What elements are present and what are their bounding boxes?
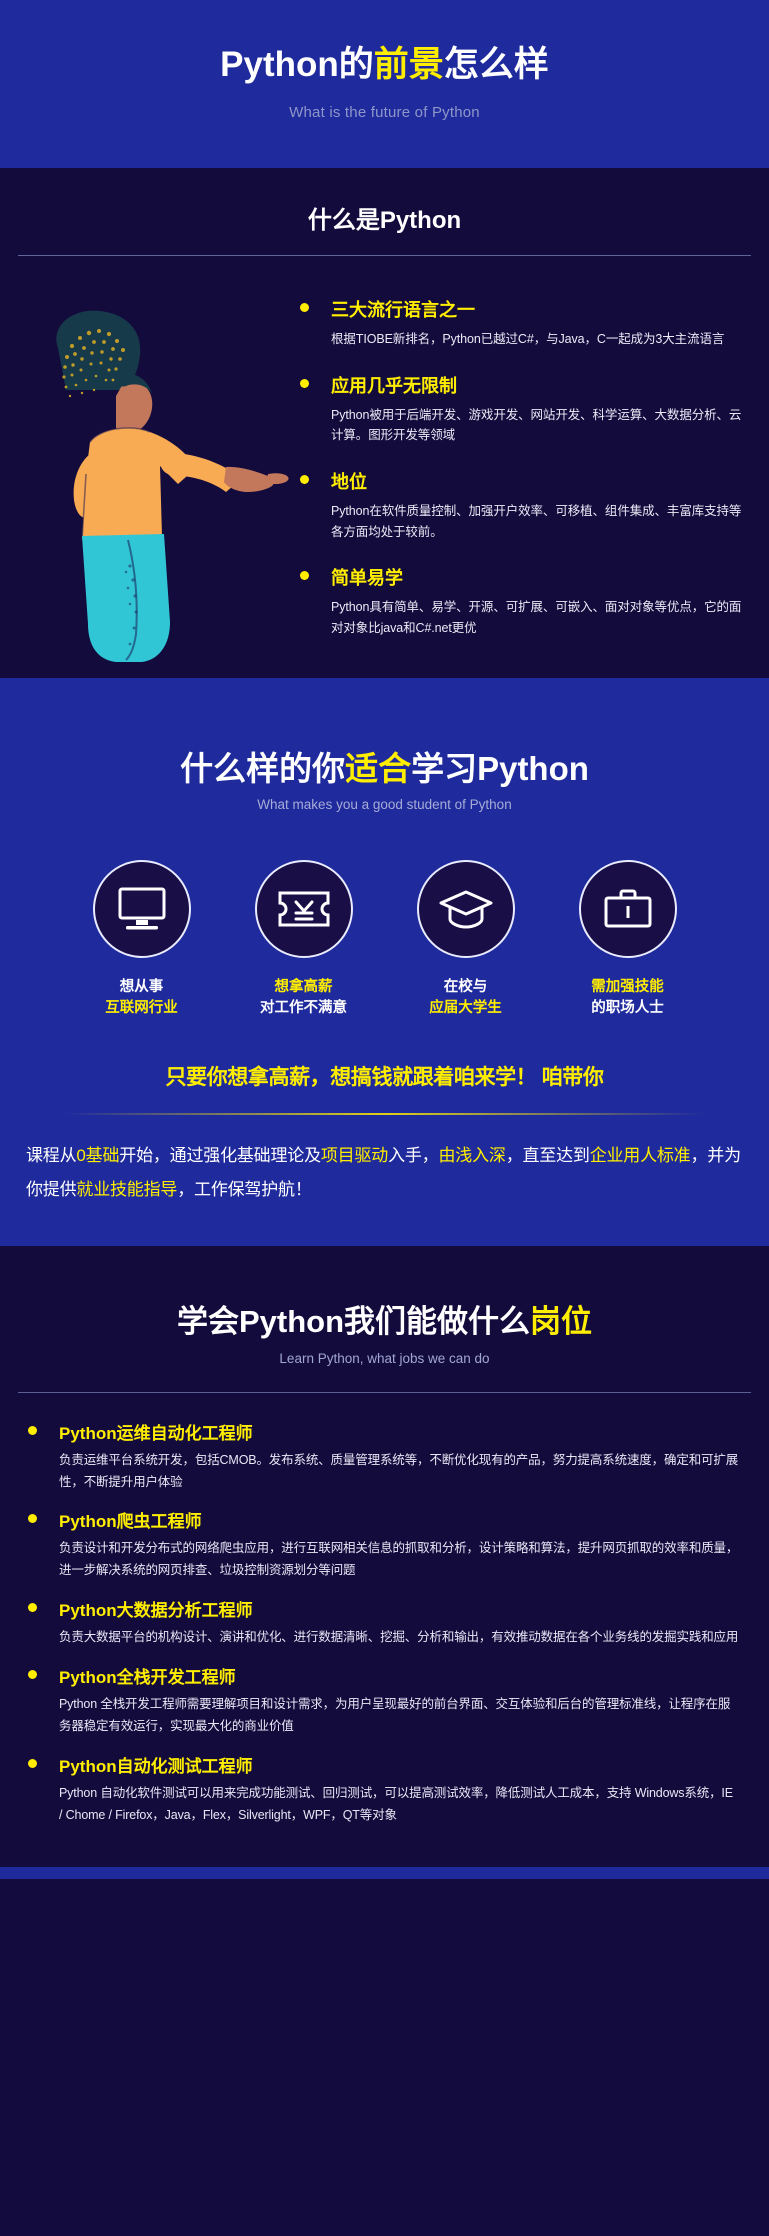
- audience-label: 想从事 互联网行业: [82, 977, 202, 1019]
- audience-item-internet[interactable]: 想从事 互联网行业: [82, 860, 202, 1019]
- job-body: Python 全栈开发工程师需要理解项目和设计需求，为用户呈现最好的前台界面、交…: [59, 1694, 739, 1738]
- hero-title-part1: Python的: [220, 45, 374, 84]
- bullet-dot-icon: [300, 379, 309, 388]
- ticket-yen-icon: [277, 887, 331, 931]
- section3-subtitle: Learn Python, what jobs we can do: [0, 1351, 769, 1366]
- section3-title: 学会Python我们能做什么岗位: [0, 1246, 769, 1337]
- job-item: Python自动化测试工程师 Python 自动化软件测试可以用来完成功能测试、…: [28, 1752, 739, 1827]
- section2-title-part1: 什么样的你: [180, 750, 345, 787]
- job-title: Python大数据分析工程师: [59, 1596, 253, 1621]
- bullet-body: Python具有简单、易学、开源、可扩展、可嵌入、面对对象等优点，它的面对对象比…: [331, 597, 745, 638]
- footer-band: [0, 1867, 769, 1879]
- monitor-icon-circle: [93, 860, 191, 958]
- slogan-divider: [64, 1113, 705, 1115]
- job-body: 负责大数据平台的机构设计、演讲和优化、进行数据清晰、挖掘、分析和输出，有效推动数…: [59, 1627, 739, 1649]
- feature-bullet-list: 三大流行语言之一 根据TIOBE新排名，Python已越过C#，与Java，C一…: [300, 256, 769, 660]
- bullet-dot-icon: [300, 571, 309, 580]
- job-title: Python自动化测试工程师: [59, 1752, 253, 1777]
- bullet-dot-icon: [28, 1603, 37, 1612]
- bullet-body: Python被用于后端开发、游戏开发、网站开发、科学运算、大数据分析、云计算。图…: [331, 405, 745, 446]
- job-list: Python运维自动化工程师 负责运维平台系统开发，包括CMOB。发布系统、质量…: [0, 1393, 769, 1827]
- section1-heading: 什么是Python: [0, 168, 769, 255]
- audience-label: 想拿高薪 对工作不满意: [244, 977, 364, 1019]
- graduation-cap-icon: [438, 886, 494, 932]
- job-item: Python运维自动化工程师 负责运维平台系统开发，包括CMOB。发布系统、质量…: [28, 1419, 739, 1494]
- job-heading: Python运维自动化工程师: [28, 1419, 739, 1444]
- section-jobs: 学会Python我们能做什么岗位 Learn Python, what jobs…: [0, 1246, 769, 1867]
- audience-label-line2: 互联网行业: [82, 998, 202, 1019]
- bullet-heading: 简单易学: [300, 564, 745, 590]
- infographic-page: Python的前景怎么样 What is the future of Pytho…: [0, 0, 769, 1879]
- blurb-seg7: ，直至达到: [506, 1146, 590, 1165]
- bullet-title: 应用几乎无限制: [331, 372, 457, 398]
- hero-subtitle: What is the future of Python: [0, 104, 769, 121]
- bullet-heading: 应用几乎无限制: [300, 372, 745, 398]
- job-heading: Python爬虫工程师: [28, 1507, 739, 1532]
- blurb-seg8-highlight: 企业用人标准: [590, 1146, 691, 1165]
- bullet-title: 简单易学: [331, 564, 403, 590]
- section2-title-part2: 学习Python: [411, 750, 589, 787]
- blurb-seg11: ，工作保驾护航！: [177, 1180, 311, 1199]
- job-body: 负责设计和开发分布式的网络爬虫应用，进行互联网相关信息的抓取和分析，设计策略和算…: [59, 1538, 739, 1582]
- section2-title: 什么样的你适合学习Python: [0, 678, 769, 785]
- hero-title-highlight: 前景: [374, 45, 444, 84]
- blurb-seg4-highlight: 项目驱动: [321, 1146, 388, 1165]
- bullet-body: 根据TIOBE新排名，Python已越过C#，与Java，C一起成为3大主流语言: [331, 329, 745, 350]
- job-title: Python全栈开发工程师: [59, 1663, 236, 1688]
- bullet-item: 地位 Python在软件质量控制、加强开户效率、可移植、组件集成、丰富库支持等各…: [300, 468, 745, 542]
- bullet-body: Python在软件质量控制、加强开户效率、可移植、组件集成、丰富库支持等各方面均…: [331, 501, 745, 542]
- bullet-title: 地位: [331, 468, 367, 494]
- audience-label-line1: 想从事: [82, 977, 202, 998]
- section2-blurb: 课程从0基础开始，通过强化基础理论及项目驱动入手，由浅入深，直至达到企业用人标准…: [26, 1139, 743, 1205]
- graduation-cap-icon-circle: [417, 860, 515, 958]
- ticket-yen-icon-circle: [255, 860, 353, 958]
- audience-label-line2: 的职场人士: [568, 998, 688, 1019]
- bullet-dot-icon: [28, 1670, 37, 1679]
- blurb-seg2-highlight: 0基础: [76, 1146, 119, 1165]
- audience-icon-row: 想从事 互联网行业 想拿高薪 对工作不满意: [0, 860, 769, 1019]
- audience-label: 需加强技能 的职场人士: [568, 977, 688, 1019]
- audience-label-line1: 想拿高薪: [244, 977, 364, 998]
- blurb-seg10-highlight: 就业技能指导: [76, 1180, 177, 1199]
- bullet-dot-icon: [28, 1514, 37, 1523]
- section-what-is-python: 什么是Python: [0, 168, 769, 678]
- job-body: Python 自动化软件测试可以用来完成功能测试、回归测试，可以提高测试效率，降…: [59, 1783, 739, 1827]
- bullet-item: 简单易学 Python具有简单、易学、开源、可扩展、可嵌入、面对对象等优点，它的…: [300, 564, 745, 638]
- job-body: 负责运维平台系统开发，包括CMOB。发布系统、质量管理系统等，不断优化现有的产品…: [59, 1450, 739, 1494]
- hero-title-part2: 怎么样: [444, 45, 549, 84]
- section2-slogan: 只要你想拿高薪，想搞钱就跟着咱来学！ 咱带你: [0, 1061, 769, 1091]
- section3-divider: [18, 1392, 751, 1393]
- section3-title-part1: 学会Python我们能做什么: [177, 1304, 530, 1339]
- job-item: Python爬虫工程师 负责设计和开发分布式的网络爬虫应用，进行互联网相关信息的…: [28, 1507, 739, 1582]
- illustration-column: [0, 256, 300, 660]
- bullet-item: 应用几乎无限制 Python被用于后端开发、游戏开发、网站开发、科学运算、大数据…: [300, 372, 745, 446]
- job-title: Python运维自动化工程师: [59, 1419, 253, 1444]
- bullet-dot-icon: [300, 475, 309, 484]
- audience-label: 在校与 应届大学生: [406, 977, 526, 1019]
- section3-title-highlight: 岗位: [530, 1304, 592, 1339]
- briefcase-icon: [602, 886, 654, 932]
- bullet-item: 三大流行语言之一 根据TIOBE新排名，Python已越过C#，与Java，C一…: [300, 296, 745, 350]
- section2-title-highlight: 适合: [345, 750, 411, 787]
- bullet-dot-icon: [28, 1426, 37, 1435]
- blurb-seg5: 入手，: [388, 1146, 438, 1165]
- bullet-heading: 地位: [300, 468, 745, 494]
- audience-item-salary[interactable]: 想拿高薪 对工作不满意: [244, 860, 364, 1019]
- bullet-title: 三大流行语言之一: [331, 296, 475, 322]
- audience-label-line1: 需加强技能: [568, 977, 688, 998]
- section-good-student: 什么样的你适合学习Python What makes you a good st…: [0, 678, 769, 1245]
- job-title: Python爬虫工程师: [59, 1507, 202, 1532]
- bullet-dot-icon: [300, 303, 309, 312]
- audience-label-line2: 应届大学生: [406, 998, 526, 1019]
- audience-item-student[interactable]: 在校与 应届大学生: [406, 860, 526, 1019]
- monitor-icon: [116, 885, 168, 933]
- briefcase-icon-circle: [579, 860, 677, 958]
- bullet-heading: 三大流行语言之一: [300, 296, 745, 322]
- job-heading: Python自动化测试工程师: [28, 1752, 739, 1777]
- audience-label-line2: 对工作不满意: [244, 998, 364, 1019]
- job-heading: Python大数据分析工程师: [28, 1596, 739, 1621]
- blurb-seg3: 开始，通过强化基础理论及: [119, 1146, 321, 1165]
- woman-pointing-illustration: [20, 304, 290, 664]
- section2-subtitle: What makes you a good student of Python: [0, 797, 769, 812]
- bullet-dot-icon: [28, 1759, 37, 1768]
- job-heading: Python全栈开发工程师: [28, 1663, 739, 1688]
- blurb-seg6-highlight: 由浅入深: [438, 1146, 505, 1165]
- blurb-seg1: 课程从: [26, 1146, 76, 1165]
- hero-banner: Python的前景怎么样 What is the future of Pytho…: [0, 0, 769, 168]
- job-item: Python全栈开发工程师 Python 全栈开发工程师需要理解项目和设计需求，…: [28, 1663, 739, 1738]
- audience-item-career[interactable]: 需加强技能 的职场人士: [568, 860, 688, 1019]
- audience-label-line1: 在校与: [406, 977, 526, 998]
- job-item: Python大数据分析工程师 负责大数据平台的机构设计、演讲和优化、进行数据清晰…: [28, 1596, 739, 1649]
- page-title: Python的前景怎么样: [0, 47, 769, 82]
